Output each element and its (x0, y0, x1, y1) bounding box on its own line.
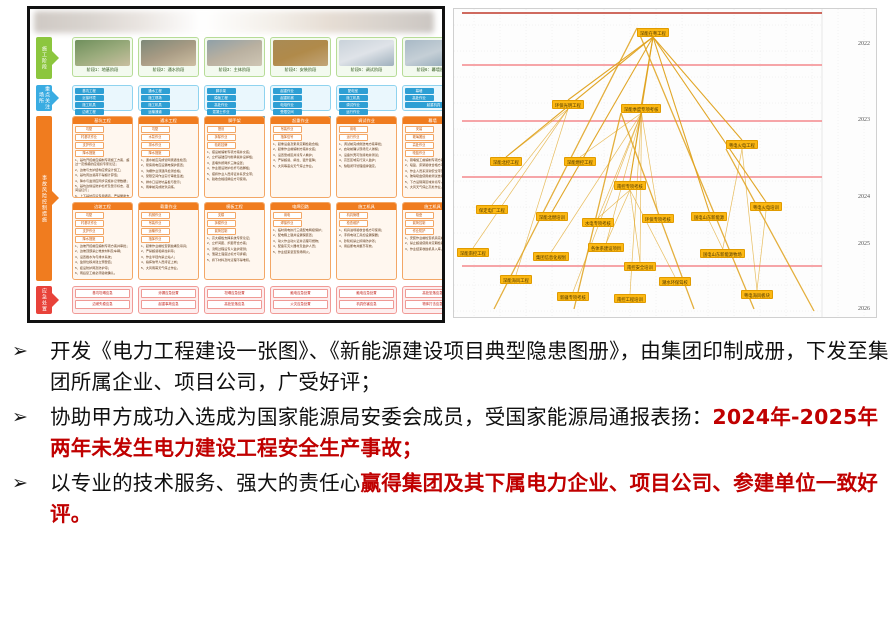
tree-node[interactable]: 集团信息化规划 (533, 252, 569, 261)
risk-control-measure-line: 1、调试前完成倒送电方案审批； (339, 142, 394, 146)
bullet-arrow-icon: ➢ (12, 336, 28, 367)
risk-control-tag[interactable]: 载荷控制 (405, 220, 434, 227)
focus-area-card[interactable]: 基坑工程近接环境施工机具边坡工程 (72, 85, 133, 111)
risk-control-measure-line: 3、连墙件按两步三跨设置； (207, 161, 262, 165)
risk-control-tag[interactable]: 拆模作业 (207, 220, 236, 227)
poster-band-focus-arrow-icon (52, 91, 59, 105)
focus-chip[interactable]: 施工机具 (75, 102, 104, 108)
tree-node[interactable]: 粤电火电工程 (726, 140, 758, 149)
risk-control-tag[interactable]: 检查维护 (339, 220, 368, 227)
risk-control-measure-line: 2、手持电动工具加设漏保器； (339, 233, 394, 237)
risk-control-tag[interactable]: 载荷控制 (207, 228, 236, 235)
stage-photo-card[interactable]: 阶段2：通水阶段 (138, 37, 199, 77)
emergency-response-item[interactable]: 高处坠落应急 (405, 289, 445, 298)
risk-control-measure-line: 5、下方设隔离区域并派专人看护； (405, 180, 445, 184)
risk-control-measure-line: 4、监测位移并建立预警值； (75, 260, 130, 264)
risk-control-card[interactable]: 脚手架搭设拆除作业验收挂牌1、搭设前编制专项方案并交底；2、立杆基础应均衡承载并… (204, 116, 265, 198)
tree-node[interactable]: 潮水环保驾校 (659, 277, 691, 286)
risk-control-measure-line: 4、用后断电并整齐存放。 (339, 244, 394, 248)
risk-control-measure-line: 1、临时用电执行三级配电两级保护； (273, 228, 328, 232)
tree-node[interactable]: 粤电海风板块 (741, 290, 773, 299)
risk-control-card[interactable]: 边坡工程坑壁村基坑作业支护作业降水措施1、边坡开挖前应编制专项方案并审批；2、边… (72, 202, 133, 280)
risk-control-measure-line: 3、砂轮机禁止拆除防护罩； (339, 239, 394, 243)
stage-photo (207, 40, 262, 66)
risk-control-tags: 用电运行作业 (337, 124, 396, 142)
risk-control-measures: 1、调试前完成倒送电方案审批；2、启动前确认现场无人滞留；3、设备外壳可靠接地并… (337, 142, 396, 171)
stage-photo-card[interactable]: 阶段1：地基阶段 (72, 37, 133, 77)
tree-node[interactable]: 深能季度专项考核 (621, 104, 661, 113)
focus-chip[interactable]: 配电室 (339, 88, 368, 94)
project-timeline-tree-chart[interactable]: 深能在粤工程环保光明工程深能季度专项考核粤电火电工程深能北控工程深能燃控工程南控… (453, 8, 877, 318)
risk-control-measure-line: 4、严禁超载、斜拉、猛升猛降； (273, 158, 328, 162)
stage-photo-card[interactable]: 阶段6：幕墙阶段 (402, 37, 445, 77)
poster-band-emergency-arrow-icon (52, 293, 59, 307)
tree-node[interactable]: 各体系建设项目 (588, 243, 624, 252)
risk-control-measure-line: 3、作业半径内禁止站人； (141, 255, 196, 259)
risk-control-measure-line: 1、基坑开挖前应编制专项施工方案，超过一定规模的应组织专家论证； (75, 158, 130, 167)
emergency-response-item[interactable]: 火灾应急处置 (273, 300, 328, 309)
risk-control-measure-line: 5、拆下材料及时清理不得堆积。 (207, 258, 262, 262)
risk-control-title: 边坡工程 (73, 203, 132, 210)
risk-control-card[interactable]: 幕墙安装玻璃搬运高处作业吺篮作业1、幕墙施工前编制专项方案并交底；2、吺篮、床架… (402, 116, 445, 198)
emergency-response-item[interactable]: 起重事故应急 (141, 300, 196, 309)
risk-control-measure-line: 6、大风天气停止高处作业。 (405, 185, 445, 189)
risk-control-title: 调试作业 (337, 117, 396, 124)
bullet-text: 以专业的技术服务、强大的责任心赢得集团及其下属电力企业、项目公司、参建单位一致好… (50, 468, 896, 530)
bullet-normal-text: 以专业的技术服务、强大的责任心 (50, 471, 361, 495)
focus-chip[interactable]: 脚手架 (207, 88, 236, 94)
risk-control-card[interactable]: 调试作业用电运行作业1、调试前完成倒送电方案审批；2、启动前确认现场无人滞留；3… (336, 116, 397, 198)
year-axis-label: 2025 (858, 241, 870, 247)
risk-control-tag[interactable]: 机械作业 (141, 212, 170, 219)
focus-chip[interactable]: 起重作业 (273, 88, 302, 94)
focus-chip[interactable]: 模板工程 (207, 95, 236, 101)
poster-canvas: 施工阶段 重点关注场所 事故风险控制措施 应急处置 阶段1：地基阶段基坑工程近接… (30, 9, 442, 320)
risk-control-measure-line: 2、起重作业前编制方案并交底； (273, 147, 328, 151)
emergency-response-item[interactable]: 机具伤害应急 (339, 300, 394, 309)
risk-control-measure-line: 4、作业层设防护栏杆与挡脚板； (207, 166, 262, 170)
risk-control-measure-line: 1、机具进场验收合格方可使用； (339, 228, 394, 232)
focus-chip[interactable]: 通水工程 (141, 88, 170, 94)
stage-photo-card[interactable]: 阶段5：调试阶段 (336, 37, 397, 77)
risk-control-measure-line: 3、作业人员系双钩安全带及生命绳； (405, 169, 445, 173)
tree-node[interactable]: 粤电火电培训 (750, 202, 782, 211)
risk-control-measure-line: 2、泵房用电应设漏电保护装置； (141, 163, 196, 167)
risk-control-measure-line: 4、高压区域实行双人监护； (339, 158, 394, 162)
risk-control-measures: 1、机具进场验收合格方可使用；2、手持电动工具加设漏保器；3、砂轮机禁止拆除防护… (337, 228, 396, 252)
risk-control-tag[interactable]: 指挥作业 (141, 236, 170, 243)
focus-area-card[interactable]: 通水工程施工现场施工机具运输通道 (138, 85, 199, 111)
stage-caption: 阶段2：通水阶段 (141, 67, 196, 73)
risk-control-measure-line: 4、混凝土强度达标方可拆模； (207, 252, 262, 256)
tree-node[interactable]: 深能北控工程 (490, 157, 522, 166)
stage-photo-card[interactable]: 阶段4：安装阶段 (270, 37, 331, 77)
risk-control-measure-line: 3、设备外壳可靠接地并测试； (339, 153, 394, 157)
tree-node[interactable]: 水电专项考核 (582, 218, 614, 227)
emergency-response-card[interactable]: 高处坠落应急物体打击应急 (402, 286, 445, 314)
risk-control-tags: 支模拆模作业载荷控制 (205, 210, 264, 236)
illustration-row: 施工阶段 重点关注场所 事故风险控制措施 应急处置 阶段1：地基阶段基坑工程近接… (0, 0, 896, 334)
risk-control-measures: 1、幕墙施工前编制专项方案并交底；2、吺篮、床架验收合格方可使用；3、作业人员系… (403, 158, 445, 192)
risk-control-tags: 机具管理检查维护 (337, 210, 396, 228)
year-axis-label: 2023 (858, 117, 870, 123)
poster-band-stage: 施工阶段 (36, 37, 52, 79)
stage-photo (273, 40, 328, 66)
risk-control-measure-line: 3、动火作业动火证并清理可燃物； (273, 239, 328, 243)
focus-chip[interactable]: 受限空间 (273, 109, 302, 115)
risk-control-tag[interactable]: 降水措施 (75, 150, 104, 157)
poster-title-redacted (34, 11, 434, 33)
tree-node[interactable]: 新疆专项考核 (557, 292, 589, 301)
risk-control-tag[interactable]: 坑壁 (75, 126, 104, 133)
risk-control-tag[interactable]: 村基坑作业 (75, 220, 104, 227)
tree-node[interactable]: 环保专项考核 (642, 214, 674, 223)
risk-control-measure-line: 2、严禁超载和斜拉斜吊； (141, 249, 196, 253)
tree-node[interactable]: 南控工程培训 (614, 294, 646, 303)
stage-caption: 阶段1：地基阶段 (75, 67, 130, 73)
risk-control-card[interactable]: 施工机具吸盘载荷控制作业防护1、安装作业前检查机具完好性；2、禁止超载使用并定期… (402, 202, 445, 280)
risk-control-measures: 1、起重设备及索具定期检验合格；2、起重作业前编制方案并交底；3、设置警戒区并派… (271, 142, 330, 171)
risk-control-measure-line: 2、启动前确认现场无人滞留； (339, 147, 394, 151)
risk-control-title: 幕墙 (403, 117, 445, 124)
risk-control-measure-line: 5、基坑边缘设防护栏杆及警示标志，夜间设红灯； (75, 184, 130, 193)
emergency-response-card[interactable]: 触电应急处置火灾应急处置 (270, 286, 331, 314)
risk-control-measure-line: 1、边坡开挖前应编制专项方案并审批； (75, 244, 130, 248)
tree-node[interactable]: 深能燃控工程 (564, 157, 596, 166)
one-page-diagram-poster[interactable]: 施工阶段 重点关注场所 事故风险控制措施 应急处置 阶段1：地基阶段基坑工程近接… (27, 6, 445, 323)
risk-control-tag[interactable]: 指挥信号 (273, 134, 302, 141)
poster-band-stage-arrow-icon (52, 51, 59, 65)
risk-control-measure-line: 3、沟槽作业须通风检测合格； (141, 169, 196, 173)
risk-control-measure-line: 1、高大模板支撑系统专家论证； (207, 236, 262, 240)
risk-control-tag[interactable]: 坑壁 (75, 212, 104, 219)
risk-control-tag[interactable]: 支护作业 (75, 228, 104, 235)
emergency-response-card[interactable]: 触电应急处置机具伤害应急 (336, 286, 397, 314)
risk-control-tags: 机械作业吊装作业运输作业指挥作业 (139, 210, 198, 244)
focus-chip[interactable]: 高处作业 (207, 102, 236, 108)
risk-control-measure-line: 4、降水与监测应同步实施并记录数据； (75, 179, 130, 183)
risk-control-card[interactable]: 基坑工程坑壁村基坑作业支护作业降水措施1、基坑开挖前应编制专项施工方案，超过一定… (72, 116, 133, 198)
tree-node[interactable]: 深能南控工程 (457, 248, 489, 257)
risk-control-measure-line: 1、安装作业前检查机具完好性； (405, 236, 445, 240)
risk-control-tag[interactable]: 支护作业 (75, 142, 104, 149)
risk-control-measure-line: 2、吺篮、床架验收合格方可使用； (405, 163, 445, 167)
year-axis-label: 2022 (858, 41, 870, 47)
bullet-arrow-icon: ➢ (12, 402, 28, 433)
risk-control-measure-line: 4、玻璃吸盘使用前测试吿吸力； (405, 174, 445, 178)
risk-control-title: 模板工程 (205, 203, 264, 210)
focus-chip[interactable]: 运行作业 (339, 109, 368, 115)
risk-control-tag[interactable]: 吸盘 (405, 212, 434, 219)
focus-chip[interactable]: 起重机械 (273, 95, 302, 101)
poster-band-focus: 重点关注场所 (36, 85, 52, 111)
risk-control-title: 脚手架 (205, 117, 264, 124)
risk-control-tag[interactable]: 玻璃搬运 (405, 134, 434, 141)
stage-photo (339, 40, 394, 66)
bullet-normal-text: 开发《电力工程建设一张图》、《新能源建设项目典型隐患图册》，由集团印制成册，下发… (50, 339, 889, 394)
bullet-item: ➢协助甲方成功入选成为国家能源局安委会成员，受国家能源局通报表扬：2024年-2… (0, 402, 896, 464)
emergency-response-item[interactable]: 触电应急处置 (339, 289, 394, 298)
focus-area-card[interactable]: 起重作业起重机械电焰作业受限空间运输作业 (270, 85, 331, 111)
risk-control-measures: 1、临时用电执行三级配电两级保护；2、配电箱上锁并设漏保装置；3、动火作业动火证… (271, 228, 330, 257)
emergency-response-item[interactable]: 物体打击应急 (405, 300, 445, 309)
risk-control-measure-line: 2、立杆间距、步距符合方案； (207, 241, 262, 245)
risk-control-measure-line: 5、大风雨雾天气停止作业。 (141, 266, 196, 270)
focus-chip[interactable]: 电焰作业 (273, 102, 302, 108)
focus-chip[interactable]: 边坡工程 (75, 109, 104, 115)
risk-control-title: 载重作业 (139, 203, 198, 210)
risk-control-card[interactable]: 载重作业机械作业吊装作业运输作业指挥作业1、起重作业前检查钢丝绳及吊具；2、严禁… (138, 202, 199, 280)
bullet-text: 开发《电力工程建设一张图》、《新能源建设项目典型隐患图册》，由集团印制成册，下发… (50, 336, 896, 398)
risk-control-tags: 用电焊接作业 (271, 210, 330, 228)
stage-photo-card[interactable]: 阶段3：主体阶段 (204, 37, 265, 77)
risk-control-measure-line: 2、禁止超载使用并定期检验； (405, 241, 445, 245)
risk-control-tag[interactable]: 验收挂牌 (207, 142, 236, 149)
risk-control-measure-line: 1、起重设备及索具定期检验合格； (273, 142, 328, 146)
emergency-response-item[interactable]: 基坑坦塌应急 (75, 289, 130, 298)
risk-control-tag[interactable]: 高处作业 (405, 142, 434, 149)
risk-control-title: 通水工程 (139, 117, 198, 124)
bullet-item: ➢以专业的技术服务、强大的责任心赢得集团及其下属电力企业、项目公司、参建单位一致… (0, 468, 896, 530)
risk-control-measures: 1、安装作业前检查机具完好性；2、禁止超载使用并定期检验；3、作业结束收拢机具入… (403, 236, 445, 254)
stage-photo (405, 40, 445, 66)
risk-control-measure-line: 6、验收合格挂牌后方可使用。 (207, 177, 262, 181)
focus-chip[interactable]: 调试作业 (339, 102, 368, 108)
tree-node[interactable]: 南控专项考核 (614, 181, 646, 190)
risk-control-measures: 1、起重作业前检查钢丝绳及吊具；2、严禁超载和斜拉斜吊；3、作业半径内禁止站人；… (139, 244, 198, 273)
risk-control-card[interactable]: 通水工程坑壁水泵作业排水作业降水措施1、通水前应完成管网贯通性检查；2、泵房用电… (138, 116, 199, 198)
stage-caption: 阶段3：主体阶段 (207, 67, 262, 73)
risk-control-tags: 坑壁村基坑作业支护作业降水措施 (73, 124, 132, 158)
focus-chip[interactable]: 施工现场 (141, 95, 170, 101)
risk-control-title: 电焊回路 (271, 203, 330, 210)
tree-node[interactable]: 深能北燃培训 (536, 212, 568, 221)
stage-photo (75, 40, 130, 66)
risk-control-measure-line: 6、上下基坑应设专用通道，严禁攀爬支护结构； (75, 194, 130, 198)
focus-chip[interactable]: 施工机具 (339, 95, 368, 101)
tree-root-node[interactable]: 深能在粤工程 (637, 28, 669, 37)
risk-control-tag[interactable]: 降水措施 (141, 150, 170, 157)
risk-control-measure-line: 5、大风等恶劣天气停止作业。 (273, 164, 328, 168)
risk-control-measure-line: 2、立杆基础应均衡承载并设掉板； (207, 155, 262, 159)
risk-control-measure-line: 2、边坡与支护结构应按设计施工； (75, 168, 130, 172)
risk-control-tag[interactable]: 水泵作业 (141, 134, 170, 141)
tree-node[interactable]: 深能海风工程 (500, 275, 532, 284)
stage-caption: 阶段6：幕墙阶段 (405, 67, 445, 73)
focus-chip[interactable]: 混凝土作业 (207, 109, 236, 115)
tree-node[interactable]: 南控安全培训 (624, 262, 656, 271)
risk-control-measure-line: 4、配备灰灭火器材及监护人员； (273, 244, 328, 248)
risk-control-title: 施工机具 (403, 203, 445, 210)
focus-chip[interactable]: 高处作业 (405, 95, 434, 101)
risk-control-measure-line: 1、幕墙施工前编制专项方案并交底； (405, 158, 445, 162)
emergency-response-item[interactable]: 触电应急处置 (273, 289, 328, 298)
risk-control-title: 基坑工程 (73, 117, 132, 124)
risk-control-card[interactable]: 电焊回路用电焊接作业1、临时用电执行三级配电两级保护；2、配电箱上锁并设漏保装置… (270, 202, 331, 280)
risk-control-measure-line: 4、指挥信号人员持证上岗； (141, 260, 196, 264)
risk-control-measure-line: 3、基坑周边载荷不得超计算值； (75, 173, 130, 177)
risk-control-title: 起重作业 (271, 117, 330, 124)
focus-chip[interactable]: 运输通道 (141, 109, 170, 115)
emergency-response-item[interactable]: 高处坠落应急 (207, 300, 262, 309)
risk-control-tag[interactable]: 作业防护 (405, 228, 434, 235)
risk-control-tag[interactable]: 运输作业 (141, 228, 170, 235)
risk-control-measure-line: 3、设置警戒区并派专人看护； (273, 153, 328, 157)
risk-control-measures: 1、通水前应完成管网贯通性检查；2、泵房用电应设漏电保护装置；3、沟槽作业须通风… (139, 158, 198, 192)
risk-control-measures: 1、搭设前编制专项方案并交底；2、立杆基础应均衡承载并设掉板；3、连墙件按两步三… (205, 150, 264, 184)
year-axis-label: 2026 (858, 306, 870, 312)
stage-caption: 阶段4：安装阶段 (273, 67, 328, 73)
risk-control-tag[interactable]: 安装 (405, 126, 434, 133)
risk-control-card[interactable]: 施工机具机具管理检查维护1、机具进场验收合格方可使用；2、手持电动工具加设漏保器… (336, 202, 397, 280)
risk-control-tag[interactable]: 吊装作业 (273, 126, 302, 133)
risk-control-tag[interactable]: 运行作业 (339, 134, 368, 141)
emergency-response-item[interactable]: 坦塌应急处置 (207, 289, 262, 298)
risk-control-tag[interactable]: 排水作业 (141, 142, 170, 149)
risk-control-tags: 搭设拆除作业验收挂牌 (205, 124, 264, 150)
risk-control-measure-line: 3、作业结束收拢机具入库。 (405, 247, 445, 251)
poster-band-control: 事故风险控制措施 (36, 116, 52, 281)
risk-control-tag[interactable]: 用电 (273, 212, 302, 219)
risk-control-measure-line: 1、搭设前编制专项方案并交底； (207, 150, 262, 154)
bullet-arrow-icon: ➢ (12, 468, 28, 499)
risk-control-measure-line: 1、通水前应完成管网贯通性检查； (141, 158, 196, 162)
risk-control-measure-line: 5、缺陷闭环管理挂牌锁定。 (339, 164, 394, 168)
risk-control-measure-line: 2、配电箱上锁并设漏保装置； (273, 233, 328, 237)
risk-control-measure-line: 2、边坡顶部禁止堆放材料及车辆； (75, 249, 130, 253)
emergency-response-item[interactable]: 渗漏应急处置 (141, 289, 196, 298)
risk-control-tag[interactable]: 吊装作业 (141, 220, 170, 227)
risk-control-tag[interactable]: 降水措施 (75, 236, 104, 243)
emergency-response-item[interactable]: 边坡失稳应急 (75, 300, 130, 309)
emergency-response-card[interactable]: 坦塌应急处置高处坠落应急 (204, 286, 265, 314)
risk-control-tag[interactable]: 焊接作业 (273, 220, 302, 227)
risk-control-tags: 坑壁村基坑作业支护作业降水措施 (73, 210, 132, 244)
focus-chip[interactable]: 幕墙 (405, 88, 434, 94)
risk-control-tag[interactable]: 搭设 (207, 126, 236, 133)
risk-control-tags: 吊装作业指挥信号 (271, 124, 330, 142)
risk-control-measure-line: 6、雨季前完成防洪演练。 (141, 185, 196, 189)
risk-control-measure-line: 5、排水口设防坑盖板与警示； (141, 180, 196, 184)
risk-control-tags: 吸盘载荷控制作业防护 (403, 210, 445, 236)
tree-node[interactable]: 保定电厂工程 (476, 205, 508, 214)
tree-node[interactable]: 环保光明工程 (552, 100, 584, 109)
poster-band-control-arrow-icon (52, 191, 59, 205)
focus-chip[interactable]: 近接环境 (75, 95, 104, 101)
risk-control-measures: 1、高大模板支撑系统专家论证；2、立杆间距、步距符合方案；3、浇筑过程设专人监护… (205, 236, 264, 265)
risk-control-card[interactable]: 模板工程支模拆模作业载荷控制1、高大模板支撑系统专家论证；2、立杆间距、步距符合… (204, 202, 265, 280)
emergency-response-card[interactable]: 渗漏应急处置起重事故应急 (138, 286, 199, 314)
risk-control-tags: 坑壁水泵作业排水作业降水措施 (139, 124, 198, 158)
risk-control-measure-line: 5、作业结束复查现场明火。 (273, 250, 328, 254)
focus-chip[interactable]: 施工机具 (141, 102, 170, 108)
risk-control-measures: 1、边坡开挖前应编制专项方案并审批；2、边坡顶部禁止堆放材料及车辆；3、设置截水… (73, 244, 132, 278)
risk-control-tag[interactable]: 用电 (339, 126, 368, 133)
risk-control-tag[interactable]: 机具管理 (339, 212, 368, 219)
focus-area-card[interactable]: 幕墙高处作业起重机具 (402, 85, 445, 111)
risk-control-measure-line: 4、受限空间作业实行审批签发； (141, 174, 196, 178)
risk-control-measure-line: 5、挂设防护网及防护帘； (75, 266, 130, 270)
stage-caption: 阶段5：调试阶段 (339, 67, 394, 73)
risk-control-measure-line: 5、搭拆作业人员持证并系安全带； (207, 172, 262, 176)
bullet-text: 协助甲方成功入选成为国家能源局安委会成员，受国家能源局通报表扬：2024年-20… (50, 402, 896, 464)
risk-control-measures: 1、基坑开挖前应编制专项施工方案，超过一定规模的应组织专家论证；2、边坡与支护结… (73, 158, 132, 198)
focus-chip[interactable]: 基坑工程 (75, 88, 104, 94)
tree-node[interactable]: 国电山东新能源 (691, 212, 727, 221)
tree-node[interactable]: 国电山东新能源牧场 (700, 249, 745, 258)
risk-control-tag[interactable]: 吺篮作业 (405, 150, 434, 157)
risk-control-tag[interactable]: 坑壁 (141, 126, 170, 133)
risk-control-title: 施工机具 (337, 203, 396, 210)
focus-area-card[interactable]: 脚手架模板工程高处作业混凝土作业运输作业 (204, 85, 265, 111)
bullet-item: ➢开发《电力工程建设一张图》、《新能源建设项目典型隐患图册》，由集团印制成册，下… (0, 336, 896, 398)
emergency-response-card[interactable]: 基坑坦塌应急边坡失稳应急 (72, 286, 133, 314)
risk-control-tags: 安装玻璃搬运高处作业吺篮作业 (403, 124, 445, 158)
risk-control-measure-line: 3、设置截水沟与排水系统； (75, 255, 130, 259)
slide-bullet-list: ➢开发《电力工程建设一张图》、《新能源建设项目典型隐患图册》，由集团印制成册，下… (0, 336, 896, 644)
focus-area-card[interactable]: 配电室施工机具调试作业运行作业 (336, 85, 397, 111)
poster-band-emergency: 应急处置 (36, 286, 52, 314)
risk-control-card[interactable]: 起重作业吊装作业指挥信号1、起重设备及索具定期检验合格；2、起重作业前编制方案并… (270, 116, 331, 198)
year-axis-label: 2024 (858, 194, 870, 200)
risk-control-measure-line: 6、雨后复工前必须验收确认。 (75, 271, 130, 275)
risk-control-tag[interactable]: 拆除作业 (207, 134, 236, 141)
risk-control-measure-line: 3、浇筑过程设专人监护观测； (207, 247, 262, 251)
focus-chip[interactable]: 起重机具 (405, 102, 446, 108)
risk-control-tag[interactable]: 支模 (207, 212, 236, 219)
bullet-normal-text: 协助甲方成功入选成为国家能源局安委会成员，受国家能源局通报表扬： (50, 405, 712, 429)
risk-control-tag[interactable]: 村基坑作业 (75, 134, 104, 141)
stage-photo (141, 40, 196, 66)
risk-control-measure-line: 1、起重作业前检查钢丝绳及吊具； (141, 244, 196, 248)
